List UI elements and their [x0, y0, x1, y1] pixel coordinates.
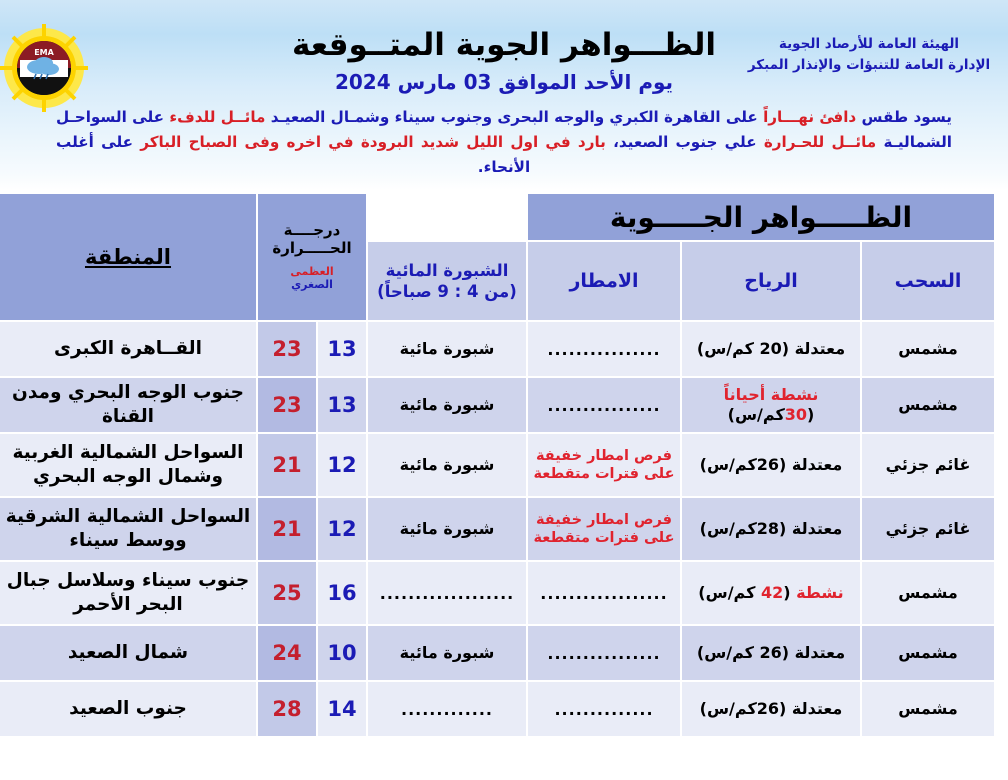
summary-seg-6: مائــل للحـرارة: [764, 133, 876, 151]
temperature-min-label: الصغري: [258, 279, 366, 292]
rain-alert-line1: فرص امطار خفيفة: [528, 511, 680, 529]
table-row: مشمسمعتدلة (26 كم/س)................شبور…: [0, 626, 994, 680]
cell-mist: شبورة مائية: [368, 378, 526, 432]
cell-mist: شبورة مائية: [368, 626, 526, 680]
cell-mist: شبورة مائية: [368, 434, 526, 496]
cell-temp-min: 10: [318, 626, 366, 680]
cell-temp-max: 23: [258, 378, 316, 432]
cell-mist: شبورة مائية: [368, 498, 526, 560]
cell-clouds: غائم جزئي: [862, 498, 994, 560]
cell-temp-max: 21: [258, 498, 316, 560]
temperature-max-label: العظمى: [258, 266, 366, 279]
cell-temp-min: 13: [318, 378, 366, 432]
cell-mist: ...................: [368, 562, 526, 624]
cell-wind: معتدلة (26كم/س): [682, 682, 860, 736]
cell-region: جنوب الوجه البحري ومدن القناة: [0, 378, 256, 432]
table-row: غائم جزئيمعتدلة (26كم/س)فرص امطار خفيفةع…: [0, 434, 994, 496]
cell-temp-min: 12: [318, 434, 366, 496]
cell-clouds: مشمس: [862, 378, 994, 432]
table-row: مشمسنشطة (42 كم/س)......................…: [0, 562, 994, 624]
cell-temp-min: 14: [318, 682, 366, 736]
cell-rain: ..............: [528, 682, 680, 736]
cell-region: جنوب سيناء وسلاسل جبال البحر الأحمر: [0, 562, 256, 624]
cell-clouds: غائم جزئي: [862, 434, 994, 496]
summary-seg-4: مائــل للدفء: [169, 108, 265, 126]
wind-strength: نشطة أحياناً: [682, 385, 860, 405]
wind-speed-unit: كم/س): [698, 583, 761, 602]
forecast-summary: يسود طقس دافئ نهـــاراً على القاهرة الكب…: [56, 105, 952, 180]
cell-wind: نشطة (42 كم/س): [682, 562, 860, 624]
cell-region: القــاهرة الكبرى: [0, 322, 256, 376]
temperature-header: درجــــة الحـــــرارة العظمى الصغري: [258, 194, 366, 320]
wind-speed: (30كم/س): [682, 405, 860, 425]
cell-rain: فرص امطار خفيفةعلى فترات متقطعة: [528, 434, 680, 496]
table-row: غائم جزئيمعتدلة (28كم/س)فرص امطار خفيفةع…: [0, 498, 994, 560]
cell-clouds: مشمس: [862, 322, 994, 376]
cell-temp-max: 21: [258, 434, 316, 496]
cell-temp-max: 23: [258, 322, 316, 376]
cell-wind: معتدلة (28كم/س): [682, 498, 860, 560]
table-row: مشمسمعتدلة (26كم/س).....................…: [0, 682, 994, 736]
rain-alert-line2: على فترات متقطعة: [528, 465, 680, 483]
header-banner: EMA الهيئة العامة للأرصاد الجوية الإدارة…: [0, 0, 1008, 190]
group-header-phenomena: الظـــــواهر الجـــــوية: [528, 194, 994, 240]
cell-rain: فرص امطار خفيفةعلى فترات متقطعة: [528, 498, 680, 560]
column-header-wind: الرياح: [682, 242, 860, 320]
wind-strength: نشطة (42 كم/س): [682, 583, 860, 603]
column-header-mist-line2: (من 4 : 9 صباحاً): [368, 281, 526, 302]
cell-wind: معتدلة (26 كم/س): [682, 626, 860, 680]
rain-alert-line2: على فترات متقطعة: [528, 529, 680, 547]
summary-seg-8: بارد في اول الليل شديد البرودة في اخره و…: [140, 133, 606, 151]
cell-temp-max: 24: [258, 626, 316, 680]
table-row: مشمسنشطة أحياناً(30كم/س)................…: [0, 378, 994, 432]
region-header: المنطقة: [0, 194, 256, 320]
cell-temp-min: 13: [318, 322, 366, 376]
cell-temp-min: 16: [318, 562, 366, 624]
forecast-table-body: مشمسمعتدلة (20 كم/س)................شبور…: [0, 322, 994, 736]
cell-mist: .............: [368, 682, 526, 736]
summary-seg-2: دافئ نهـــاراً: [763, 108, 856, 126]
cell-region: السواحل الشمالية الشرقية ووسط سيناء: [0, 498, 256, 560]
wind-speed-value: 42: [761, 583, 783, 602]
summary-seg-3: على القاهرة الكبري والوجه البحرى وجنوب س…: [265, 108, 763, 126]
forecast-table-wrap: الظـــــواهر الجـــــوية درجــــة الحـــ…: [12, 192, 996, 738]
cell-mist: شبورة مائية: [368, 322, 526, 376]
cell-rain: ................: [528, 378, 680, 432]
cell-clouds: مشمس: [862, 562, 994, 624]
cell-temp-max: 28: [258, 682, 316, 736]
forecast-page: EMA الهيئة العامة للأرصاد الجوية الإدارة…: [0, 0, 1008, 780]
cell-rain: ................: [528, 322, 680, 376]
column-header-mist: الشبورة المائية (من 4 : 9 صباحاً): [368, 242, 526, 320]
cell-clouds: مشمس: [862, 626, 994, 680]
table-header-row-1: الظـــــواهر الجـــــوية درجــــة الحـــ…: [0, 194, 994, 240]
table-row: مشمسمعتدلة (20 كم/س)................شبور…: [0, 322, 994, 376]
column-header-mist-line1: الشبورة المائية: [368, 260, 526, 281]
temperature-title: درجــــة الحـــــرارة: [272, 221, 351, 257]
cell-rain: ................: [528, 626, 680, 680]
summary-seg-1: يسود طقس: [856, 108, 952, 126]
cell-region: السواحل الشمالية الغربية وشمال الوجه الب…: [0, 434, 256, 496]
column-header-rain: الامطار: [528, 242, 680, 320]
cell-temp-max: 25: [258, 562, 316, 624]
cell-region: شمال الصعيد: [0, 626, 256, 680]
page-title: الظـــواهر الجوية المتــوقعة: [0, 27, 1008, 63]
rain-alert-line1: فرص امطار خفيفة: [528, 447, 680, 465]
group-header-spacer: [368, 194, 526, 240]
cell-wind: معتدلة (20 كم/س): [682, 322, 860, 376]
summary-seg-7: علي جنوب الصعيد،: [606, 133, 764, 151]
wind-speed-value: 30: [785, 405, 807, 424]
cell-wind: معتدلة (26كم/س): [682, 434, 860, 496]
forecast-table: الظـــــواهر الجـــــوية درجــــة الحـــ…: [0, 192, 996, 738]
cell-clouds: مشمس: [862, 682, 994, 736]
forecast-date: يوم الأحد الموافق 03 مارس 2024: [0, 70, 1008, 94]
cell-region: جنوب الصعيد: [0, 682, 256, 736]
cell-wind: نشطة أحياناً(30كم/س): [682, 378, 860, 432]
cell-temp-min: 12: [318, 498, 366, 560]
column-header-clouds: السحب: [862, 242, 994, 320]
cell-rain: ..................: [528, 562, 680, 624]
